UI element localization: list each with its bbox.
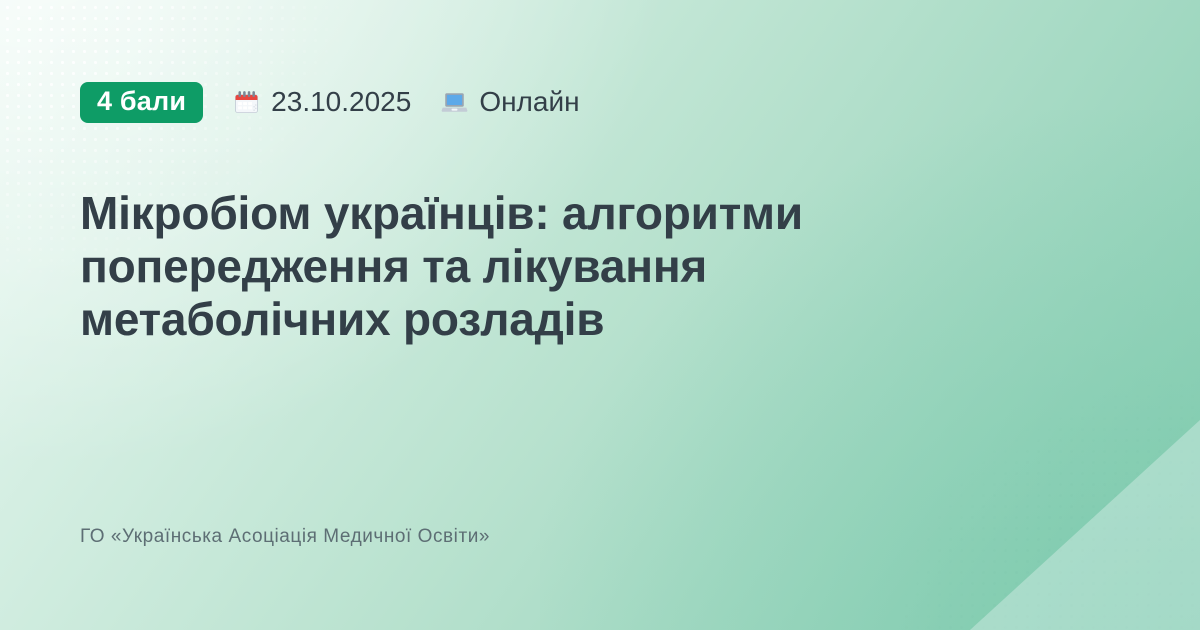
calendar-icon — [233, 89, 260, 116]
layout-spacer — [80, 346, 1120, 525]
laptop-icon — [441, 89, 468, 116]
event-share-card: 4 бали — [0, 0, 1200, 630]
meta-row: 4 бали — [80, 80, 1120, 124]
event-date-value: 23.10.2025 — [271, 88, 411, 116]
status-badge-credits: 4 бали — [80, 82, 203, 123]
event-date: 23.10.2025 — [233, 88, 411, 116]
organizer-label: ГО «Українська Асоціація Медичної Освіти… — [80, 525, 1120, 550]
page-title: Мікробіом українців: алгоритми попередже… — [80, 187, 1010, 346]
card-content: 4 бали — [0, 0, 1200, 630]
event-format: Онлайн — [441, 88, 579, 116]
event-format-value: Онлайн — [479, 88, 579, 116]
